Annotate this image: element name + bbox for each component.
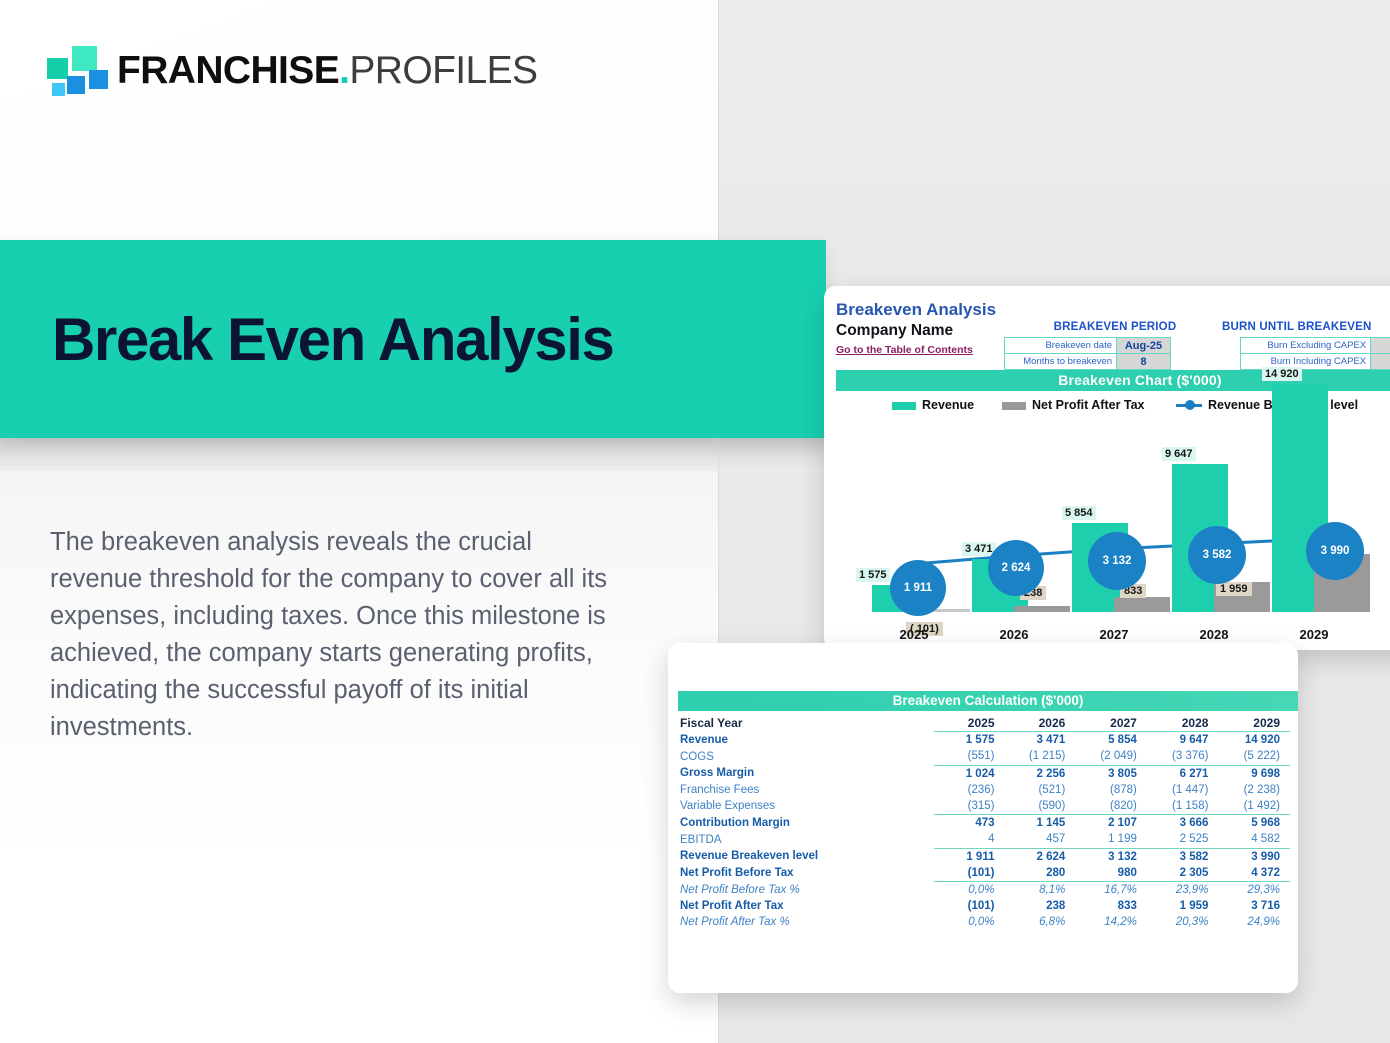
row-label: COGS [676, 748, 934, 765]
bubble-breakeven-2028: 3 582 [1188, 526, 1246, 584]
column-header-2027: 2027 [1075, 715, 1147, 732]
calculation-table-title: Breakeven Calculation ($'000) [678, 691, 1298, 711]
table-row: COGS(551)(1 215)(2 049)(3 376)(5 222) [676, 748, 1290, 765]
cell-2029: 3 716 [1218, 898, 1290, 914]
cell-2026: 1 145 [1005, 815, 1076, 832]
cell-2029: 9 698 [1218, 765, 1290, 782]
cell-2025: 1 024 [934, 765, 1005, 782]
cell-2026: 8,1% [1005, 881, 1076, 898]
months-to-breakeven-label: Months to breakeven [1005, 354, 1117, 370]
column-header-2029: 2029 [1218, 715, 1290, 732]
cell-2027: 980 [1075, 865, 1147, 882]
cell-2026: 2 624 [1005, 848, 1076, 865]
cell-2029: 4 582 [1218, 831, 1290, 848]
breakeven-period-table: Breakeven date Aug-25 Months to breakeve… [1004, 337, 1171, 370]
cell-2026: 3 471 [1005, 732, 1076, 749]
page-title: Break Even Analysis [52, 305, 614, 374]
cell-2025: 0,0% [934, 914, 1005, 930]
table-row: Net Profit After Tax %0,0%6,8%14,2%20,3%… [676, 914, 1290, 930]
burn-including-capex-value [1371, 354, 1390, 370]
cell-2028: 20,3% [1147, 914, 1219, 930]
column-header-2025: 2025 [934, 715, 1005, 732]
cell-2028: (3 376) [1147, 748, 1219, 765]
cell-2027: (878) [1075, 782, 1147, 798]
hero-description: The breakeven analysis reveals the cruci… [50, 524, 620, 746]
cell-2029: (2 238) [1218, 782, 1290, 798]
burn-until-breakeven-heading: BURN UNTIL BREAKEVEN [1222, 321, 1390, 333]
table-row: Franchise Fees(236)(521)(878)(1 447)(2 2… [676, 782, 1290, 798]
legend-item-revenue: Revenue [892, 394, 974, 416]
company-name: Company Name [836, 322, 953, 340]
bar-label-revenue-2028: 9 647 [1162, 447, 1196, 461]
row-label: Net Profit After Tax [676, 898, 934, 914]
axis-label-2028: 2028 [1162, 627, 1266, 642]
cell-2029: (1 492) [1218, 798, 1290, 815]
logo-square-2 [72, 46, 97, 71]
row-label: EBITDA [676, 831, 934, 848]
cell-2027: 5 854 [1075, 732, 1147, 749]
bubble-breakeven-2025: 1 911 [890, 560, 946, 616]
cell-2028: 2 305 [1147, 865, 1219, 882]
burn-excluding-capex-label: Burn Excluding CAPEX [1241, 338, 1371, 354]
cell-2027: 14,2% [1075, 914, 1147, 930]
axis-label-2025: 2025 [862, 627, 966, 642]
cell-2028: 6 271 [1147, 765, 1219, 782]
cell-2028: (1 158) [1147, 798, 1219, 815]
logo-square-5 [89, 70, 108, 89]
cell-2025: (236) [934, 782, 1005, 798]
logo-square-4 [67, 76, 85, 94]
cell-2029: 3 990 [1218, 848, 1290, 865]
cell-2025: (315) [934, 798, 1005, 815]
cell-2028: 3 666 [1147, 815, 1219, 832]
breakeven-chart-card: Breakeven Analysis Company Name Go to th… [824, 286, 1390, 650]
axis-label-2029: 2029 [1262, 627, 1366, 642]
column-header-2026: 2026 [1005, 715, 1076, 732]
cell-2027: (820) [1075, 798, 1147, 815]
cell-2029: 24,9% [1218, 914, 1290, 930]
logo-squares-icon [45, 46, 107, 96]
axis-label-2026: 2026 [962, 627, 1066, 642]
breakeven-date-label: Breakeven date [1005, 338, 1117, 354]
brand-wordmark: FRANCHISE.PROFILES [117, 42, 537, 100]
row-label: Gross Margin [676, 765, 934, 782]
table-row: Months to breakeven 8 [1005, 354, 1171, 370]
row-label: Revenue [676, 732, 934, 749]
row-label: Revenue Breakeven level [676, 848, 934, 865]
cell-2027: 3 805 [1075, 765, 1147, 782]
table-row: Net Profit After Tax(101)2388331 9593 71… [676, 898, 1290, 914]
column-header-fiscal-year: Fiscal Year [676, 715, 934, 732]
table-row: Variable Expenses(315)(590)(820)(1 158)(… [676, 798, 1290, 815]
cell-2029: 5 968 [1218, 815, 1290, 832]
row-label: Net Profit Before Tax % [676, 881, 934, 898]
cell-2025: 1 911 [934, 848, 1005, 865]
bar-npat-2026 [1014, 606, 1070, 612]
cell-2027: 16,7% [1075, 881, 1147, 898]
row-label: Net Profit Before Tax [676, 865, 934, 882]
cell-2027: 1 199 [1075, 831, 1147, 848]
row-label: Variable Expenses [676, 798, 934, 815]
brand-name-light: PROFILES [349, 49, 537, 92]
cell-2028: 2 525 [1147, 831, 1219, 848]
breakeven-period-heading: BREAKEVEN PERIOD [1000, 321, 1230, 333]
cell-2026: 457 [1005, 831, 1076, 848]
cell-2028: (1 447) [1147, 782, 1219, 798]
cell-2026: (590) [1005, 798, 1076, 815]
months-to-breakeven-value: 8 [1117, 354, 1171, 370]
cell-2027: (2 049) [1075, 748, 1147, 765]
table-row: Burn Excluding CAPEX [1241, 338, 1390, 354]
table-body: Revenue1 5753 4715 8549 64714 920COGS(55… [676, 732, 1290, 931]
cell-2025: (551) [934, 748, 1005, 765]
row-label: Contribution Margin [676, 815, 934, 832]
cell-2025: (101) [934, 898, 1005, 914]
row-label: Franchise Fees [676, 782, 934, 798]
cell-2027: 3 132 [1075, 848, 1147, 865]
table-row: Revenue1 5753 4715 8549 64714 920 [676, 732, 1290, 749]
bubble-breakeven-2026: 2 624 [988, 540, 1044, 596]
burn-until-breakeven-table: Burn Excluding CAPEX Burn Including CAPE… [1240, 337, 1390, 370]
table-row: Contribution Margin4731 1452 1073 6665 9… [676, 815, 1290, 832]
cell-2028: 1 959 [1147, 898, 1219, 914]
axis-label-2027: 2027 [1062, 627, 1166, 642]
cell-2028: 3 582 [1147, 848, 1219, 865]
cell-2025: 0,0% [934, 881, 1005, 898]
logo-square-1 [47, 58, 68, 79]
cell-2025: 1 575 [934, 732, 1005, 749]
bar-label-npat-2028: 1 959 [1216, 582, 1252, 596]
breakeven-calculation-table: Fiscal Year 2025 2026 2027 2028 2029 Rev… [676, 715, 1290, 930]
table-of-contents-link[interactable]: Go to the Table of Contents [836, 344, 973, 356]
table-row: Breakeven date Aug-25 [1005, 338, 1171, 354]
column-header-2028: 2028 [1147, 715, 1219, 732]
table-row: Net Profit Before Tax %0,0%8,1%16,7%23,9… [676, 881, 1290, 898]
bubble-breakeven-2027: 3 132 [1088, 532, 1146, 590]
cell-2028: 9 647 [1147, 732, 1219, 749]
cell-2027: 2 107 [1075, 815, 1147, 832]
table-row: EBITDA44571 1992 5254 582 [676, 831, 1290, 848]
cell-2026: 2 256 [1005, 765, 1076, 782]
legend-label-npat: Net Profit After Tax [1032, 398, 1145, 412]
table-header-row: Fiscal Year 2025 2026 2027 2028 2029 [676, 715, 1290, 732]
legend-item-revenue-breakeven-level: Revenue Breakeven level [1176, 394, 1358, 416]
legend-swatch-revenue-icon [892, 402, 916, 410]
logo-square-3 [52, 83, 65, 96]
chart-card-title: Breakeven Analysis [836, 300, 996, 320]
burn-including-capex-label: Burn Including CAPEX [1241, 354, 1371, 370]
brand-dot: . [339, 49, 349, 92]
legend-marker-line-icon [1176, 404, 1202, 407]
cell-2029: 4 372 [1218, 865, 1290, 882]
table-row: Net Profit Before Tax(101)2809802 3054 3… [676, 865, 1290, 882]
cell-2026: (1 215) [1005, 748, 1076, 765]
bar-label-revenue-2029: 14 920 [1262, 367, 1302, 381]
brand-name-bold: FRANCHISE [117, 49, 339, 92]
breakeven-calculation-card: Breakeven Calculation ($'000) Fiscal Yea… [668, 643, 1298, 993]
cell-2027: 833 [1075, 898, 1147, 914]
breakeven-chart-plot: 1 575 ( 101) 1 911 3 471 238 2 624 5 854… [824, 420, 1390, 650]
burn-excluding-capex-value [1371, 338, 1390, 354]
cell-2029: (5 222) [1218, 748, 1290, 765]
row-label: Net Profit After Tax % [676, 914, 934, 930]
bar-label-revenue-2027: 5 854 [1062, 506, 1096, 520]
legend-swatch-npat-icon [1002, 402, 1026, 410]
table-row: Gross Margin1 0242 2563 8056 2719 698 [676, 765, 1290, 782]
cell-2026: 6,8% [1005, 914, 1076, 930]
cell-2028: 23,9% [1147, 881, 1219, 898]
bar-label-revenue-2025: 1 575 [856, 568, 890, 582]
table-row: Revenue Breakeven level1 9112 6243 1323 … [676, 848, 1290, 865]
legend-item-net-profit-after-tax: Net Profit After Tax [1002, 394, 1145, 416]
legend-label-revenue: Revenue [922, 398, 974, 412]
bar-npat-2027 [1114, 597, 1170, 612]
cell-2026: 280 [1005, 865, 1076, 882]
bubble-breakeven-2029: 3 990 [1306, 522, 1364, 580]
cell-2026: 238 [1005, 898, 1076, 914]
cell-2025: 473 [934, 815, 1005, 832]
brand-logo: FRANCHISE.PROFILES [45, 44, 540, 102]
cell-2025: (101) [934, 865, 1005, 882]
cell-2029: 14 920 [1218, 732, 1290, 749]
cell-2029: 29,3% [1218, 881, 1290, 898]
cell-2026: (521) [1005, 782, 1076, 798]
cell-2025: 4 [934, 831, 1005, 848]
breakeven-date-value: Aug-25 [1117, 338, 1171, 354]
